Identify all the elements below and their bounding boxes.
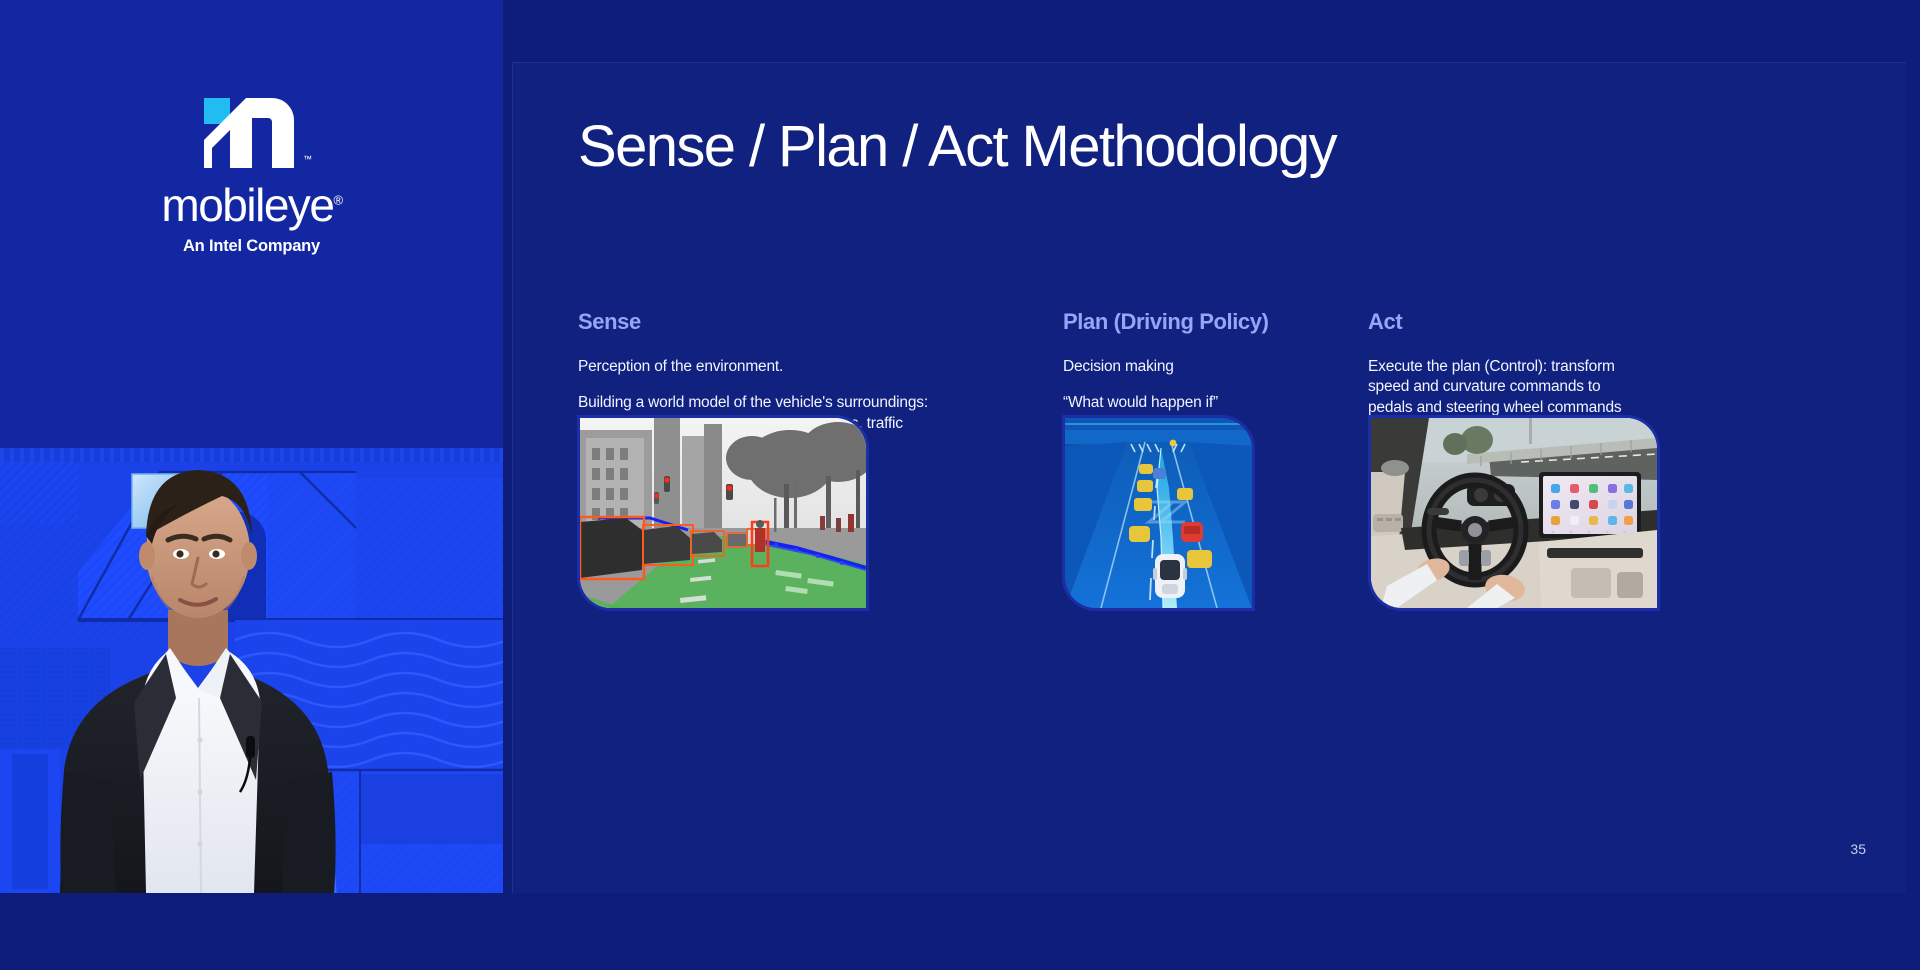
act-paragraph-1: Execute the plan (Control): transform sp… [1368,357,1633,418]
presentation-slide: Sense / Plan / Act Methodology Sense Per… [512,62,1906,893]
column-heading-plan: Plan (Driving Policy) [1063,309,1363,335]
column-heading-act: Act [1368,309,1633,335]
speaker-figure [0,440,503,893]
vehicle-cockpit-thumbnail[interactable] [1368,415,1660,611]
column-body-act: Execute the plan (Control): transform sp… [1368,357,1633,418]
mobileye-wordmark: mobileye® [161,184,341,228]
sense-paragraph-1: Perception of the environment. [578,357,933,377]
mobileye-logo-lockup: ™ mobileye® An Intel Company [0,96,503,256]
mobileye-m-mark-icon: ™ [202,96,302,170]
plan-paragraph-1: Decision making [1063,357,1363,377]
trademark-symbol: ™ [303,154,312,164]
wordmark-text: mobileye [161,179,333,231]
registered-symbol: ® [334,193,342,208]
slide-page-number: 35 [1850,841,1866,857]
perception-street-scene-thumbnail[interactable] [577,415,869,611]
column-act: Act Execute the plan (Control): transfor… [1368,309,1633,418]
column-heading-sense: Sense [578,309,933,335]
presentation-stage: ™ mobileye® An Intel Company [0,0,1920,970]
speaker-video-feed: ™ mobileye® An Intel Company [0,0,503,893]
driving-policy-simulation-thumbnail[interactable] [1062,415,1255,611]
slide-title: Sense / Plan / Act Methodology [578,113,1336,180]
logo-tagline: An Intel Company [0,237,503,256]
